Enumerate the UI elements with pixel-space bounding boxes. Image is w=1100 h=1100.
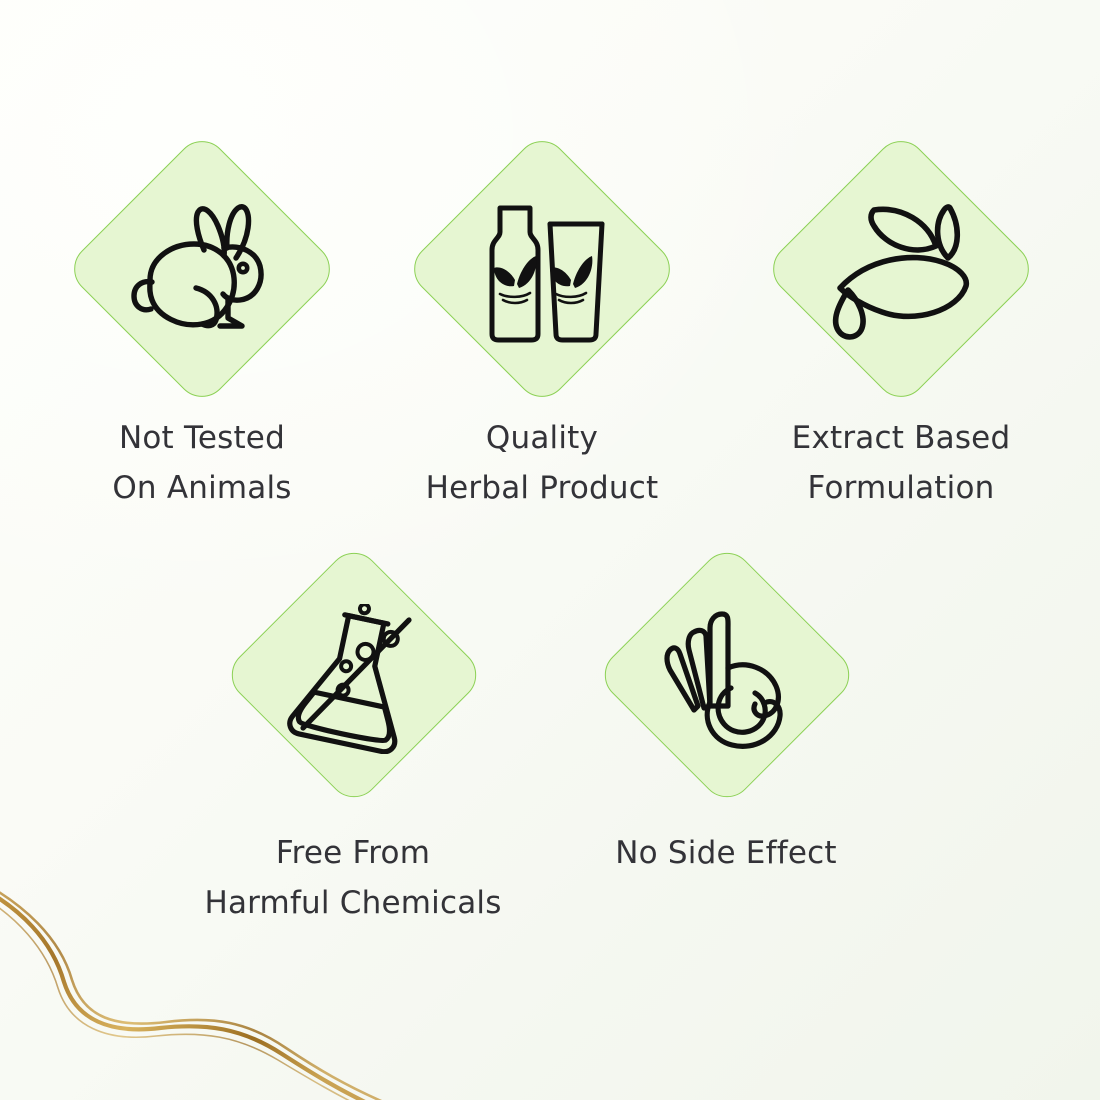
caption-line-1: Free From [204, 828, 501, 878]
diamond-tile [222, 543, 484, 815]
no-chemical-flask-icon [283, 604, 423, 754]
badge-caption: Not Tested On Animals [112, 413, 291, 513]
leaf-droplet-icon [824, 196, 978, 342]
bottle-and-tube-icon [476, 194, 608, 344]
promo-canvas: Not Tested On Animals [0, 0, 1100, 1100]
icon-container [222, 543, 484, 815]
badge-free-from-harmful-chemicals[interactable]: Free From Harmful Chemicals [222, 543, 484, 928]
icon-container [411, 138, 673, 400]
badge-extract-based-formulation[interactable]: Extract Based Formulation [770, 138, 1032, 513]
badge-caption: Extract Based Formulation [792, 413, 1011, 513]
badge-not-tested-on-animals[interactable]: Not Tested On Animals [71, 138, 333, 513]
rabbit-icon [128, 200, 276, 338]
caption-line-1: No Side Effect [615, 828, 836, 878]
icon-container [770, 138, 1032, 400]
diamond-tile [411, 138, 673, 400]
icon-container [595, 543, 857, 815]
badge-caption: Free From Harmful Chemicals [204, 828, 501, 928]
badge-quality-herbal-product[interactable]: Quality Herbal Product [411, 138, 673, 513]
badge-grid: Not Tested On Animals [0, 0, 1100, 1100]
caption-line-1: Not Tested [112, 413, 291, 463]
diamond-tile [71, 138, 333, 400]
ok-hand-icon [660, 606, 792, 752]
caption-line-2: On Animals [112, 463, 291, 513]
caption-line-2: Herbal Product [426, 463, 659, 513]
badge-caption: Quality Herbal Product [426, 413, 659, 513]
badge-no-side-effect[interactable]: No Side Effect [595, 543, 857, 878]
diamond-tile [595, 543, 857, 815]
badge-caption: No Side Effect [615, 828, 836, 878]
caption-line-1: Quality [426, 413, 659, 463]
icon-container [71, 138, 333, 400]
caption-line-2: Harmful Chemicals [204, 878, 501, 928]
diamond-tile [770, 138, 1032, 400]
caption-line-2: Formulation [792, 463, 1011, 513]
caption-line-1: Extract Based [792, 413, 1011, 463]
